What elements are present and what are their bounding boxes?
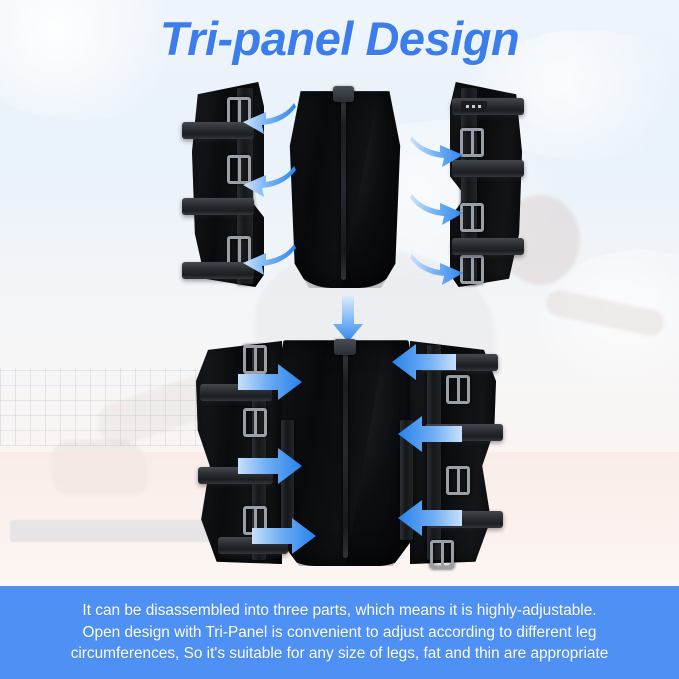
arrow-right-3 (410, 254, 463, 285)
arrow-left-1 (243, 103, 296, 134)
arrow-left-2 (243, 166, 296, 197)
caption-line-2: Open design with Tri-Panel is convenient… (83, 622, 597, 644)
tighten-arrow-left-1 (238, 364, 302, 400)
tighten-arrow-left-3 (252, 518, 316, 554)
arrow-left-3 (243, 244, 296, 275)
arrow-right-1 (410, 136, 463, 167)
caption-banner: It can be disassembled into three parts,… (0, 586, 679, 679)
tighten-arrows (0, 330, 679, 580)
tighten-arrow-right-1 (392, 344, 456, 380)
tighten-arrow-right-2 (398, 416, 462, 452)
caption-line-1: It can be disassembled into three parts,… (82, 600, 596, 622)
separation-arrows (0, 0, 679, 340)
tighten-arrow-left-2 (238, 448, 302, 484)
arrow-right-2 (410, 194, 463, 225)
tighten-arrow-right-3 (398, 500, 462, 536)
caption-line-3: circumferences, So it's suitable for any… (71, 643, 609, 665)
infographic-canvas: Tri-panel Design (0, 0, 679, 679)
